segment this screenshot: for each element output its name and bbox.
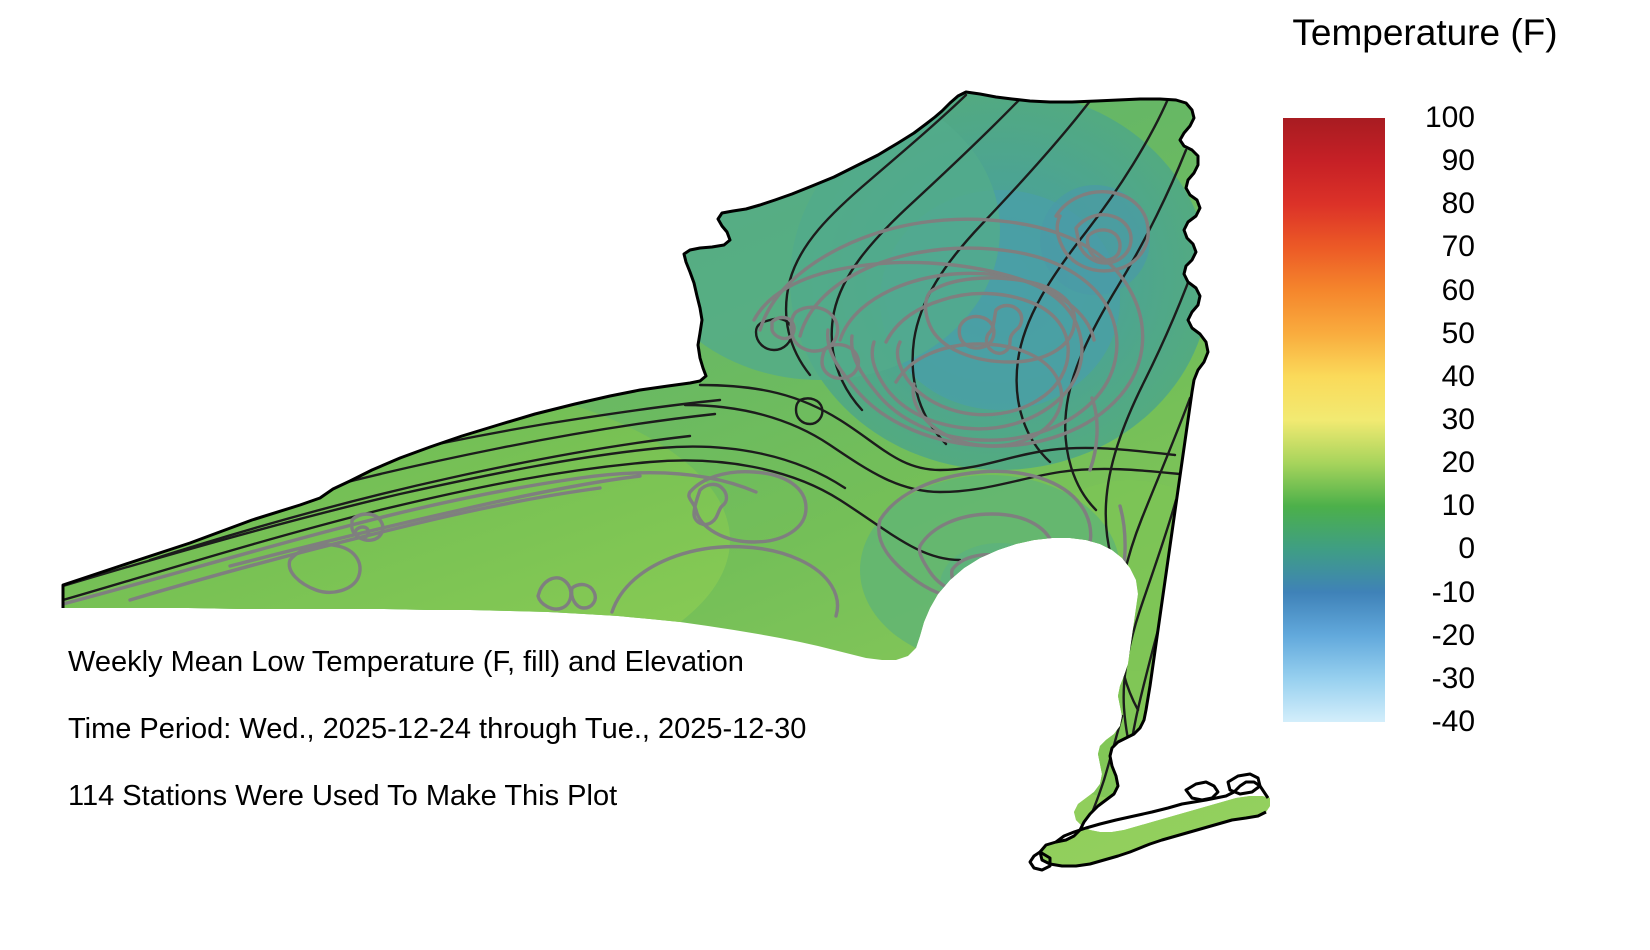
colorbar-tick-60: 60 — [1395, 276, 1475, 306]
colorbar-tick-70: 70 — [1395, 232, 1475, 262]
colorbar-tick-10: 10 — [1395, 491, 1475, 521]
colorbar-tick-80: 80 — [1395, 189, 1475, 219]
caption-line-station-count: 114 Stations Were Used To Make This Plot — [68, 782, 968, 811]
colorbar-tick-neg10: -10 — [1395, 578, 1475, 608]
colorbar-tick-neg30: -30 — [1395, 664, 1475, 694]
colorbar-tick-90: 90 — [1395, 146, 1475, 176]
colorbar-tick-0: 0 — [1395, 534, 1475, 564]
colorbar-tick-neg20: -20 — [1395, 621, 1475, 651]
colorbar-tick-neg40: -40 — [1395, 707, 1475, 737]
colorbar-tick-100: 100 — [1395, 103, 1475, 133]
colorbar-tick-30: 30 — [1395, 405, 1475, 435]
colorbar-title: Temperature (F) — [1215, 12, 1635, 54]
colorbar — [1283, 118, 1385, 722]
colorbar-tick-50: 50 — [1395, 319, 1475, 349]
colorbar-tick-20: 20 — [1395, 448, 1475, 478]
caption-line-title: Weekly Mean Low Temperature (F, fill) an… — [68, 648, 968, 677]
caption-line-time-period: Time Period: Wed., 2025-12-24 through Tu… — [68, 715, 968, 744]
colorbar-gradient — [1283, 118, 1385, 722]
colorbar-tick-40: 40 — [1395, 362, 1475, 392]
caption-block: Weekly Mean Low Temperature (F, fill) an… — [68, 648, 968, 811]
weather-map-figure: Weekly Mean Low Temperature (F, fill) an… — [0, 0, 1650, 950]
colorbar-tick-labels: 1009080706050403020100-10-20-30-40 — [1395, 118, 1515, 722]
